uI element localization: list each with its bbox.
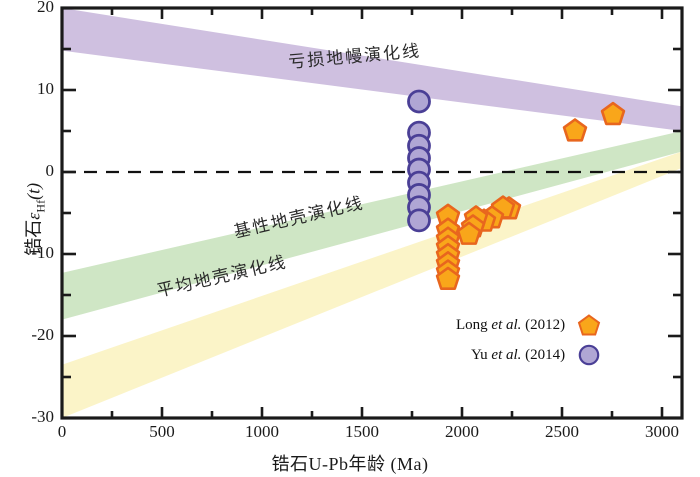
band-depleted-mantle	[62, 8, 682, 131]
legend-label-yu-2014: Yu et al. (2014)	[471, 347, 565, 364]
legend-marker-pentagon	[577, 313, 601, 337]
legend-label-long-2012-year: (2012)	[521, 317, 565, 333]
legend-label-yu-2014-main: Yu	[471, 347, 491, 363]
legend-label-long-2012-italic: et al.	[491, 317, 521, 333]
y-axis-title-prefix: 锆石	[24, 220, 44, 256]
y-tick-label: -30	[8, 407, 54, 427]
chart-figure: 050010001500200025003000 20100-10-20-30 …	[0, 0, 700, 477]
data-point	[409, 91, 430, 112]
data-point	[564, 120, 586, 141]
legend-label-yu-2014-italic: et al.	[491, 347, 521, 363]
legend-item-yu-2014[interactable]: Yu et al. (2014)	[456, 340, 601, 370]
x-tick-label: 1000	[232, 422, 292, 442]
y-axis-title: 锆石εHf(t)	[20, 89, 49, 349]
y-axis-title-time: (t)	[24, 183, 44, 200]
y-axis-title-epsilon: ε	[24, 213, 44, 220]
series-yu-2014	[409, 91, 430, 231]
data-point	[409, 210, 430, 231]
legend-label-yu-2014-year: (2014)	[521, 347, 565, 363]
x-tick-label: 500	[132, 422, 192, 442]
x-tick-label: 2000	[432, 422, 492, 442]
legend-label-long-2012: Long et al. (2012)	[456, 317, 565, 334]
x-tick-label: 2500	[532, 422, 592, 442]
legend-label-long-2012-main: Long	[456, 317, 491, 333]
x-tick-label: 3000	[632, 422, 692, 442]
x-axis-title: 锆石U-Pb年龄 (Ma)	[0, 450, 700, 476]
plot-canvas	[0, 0, 700, 477]
legend-item-long-2012[interactable]: Long et al. (2012)	[456, 310, 601, 340]
y-tick-label: 20	[8, 0, 54, 17]
legend: Long et al. (2012) Yu et al. (2014)	[456, 310, 601, 370]
legend-marker-circle	[577, 343, 601, 367]
y-axis-title-subscript: Hf	[33, 200, 47, 213]
x-tick-label: 1500	[332, 422, 392, 442]
